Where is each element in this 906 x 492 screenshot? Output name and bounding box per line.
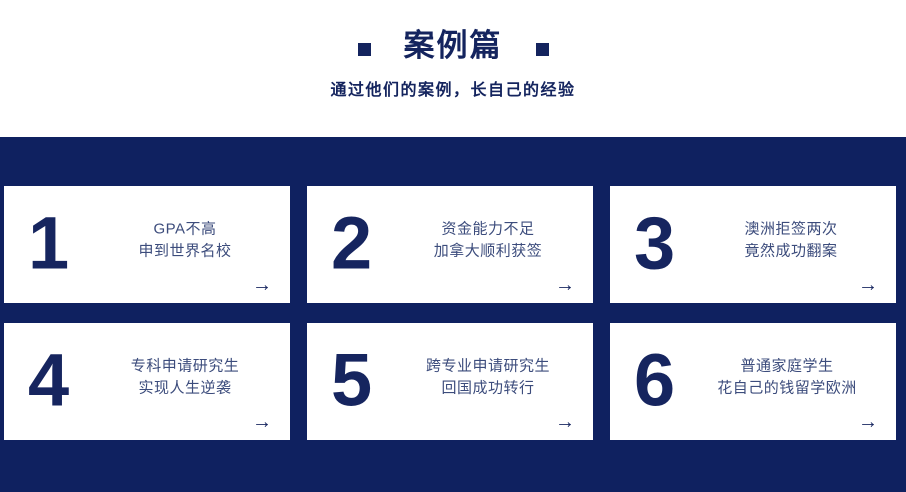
case-text-line2: 花自己的钱留学欧洲 [684,377,890,399]
case-number: 4 [28,343,68,417]
case-card-1[interactable]: 1 GPA不高 申到世界名校 → [4,186,290,303]
case-text-line1: 专科申请研究生 [90,355,280,377]
case-number: 5 [331,343,371,417]
case-number: 2 [331,206,371,280]
slide-header: 案例篇 通过他们的案例，长自己的经验 [0,0,906,137]
case-text-line2: 申到世界名校 [90,240,280,262]
case-number: 6 [634,343,674,417]
arrow-right-icon[interactable]: → [252,412,272,432]
case-card-6[interactable]: 6 普通家庭学生 花自己的钱留学欧洲 → [610,323,896,440]
title-row: 案例篇 [0,26,906,66]
page-title: 案例篇 [404,26,503,66]
case-text-line2: 回国成功转行 [393,377,583,399]
case-text: GPA不高 申到世界名校 [90,218,280,262]
case-text-line1: 澳洲拒签两次 [696,218,886,240]
case-text: 普通家庭学生 花自己的钱留学欧洲 [684,355,890,399]
case-card-4[interactable]: 4 专科申请研究生 实现人生逆袭 → [4,323,290,440]
case-number: 3 [634,206,674,280]
case-text-line2: 实现人生逆袭 [90,377,280,399]
case-text: 资金能力不足 加拿大顺利获签 [393,218,583,262]
case-text-line1: 资金能力不足 [393,218,583,240]
case-card-grid: 1 GPA不高 申到世界名校 → 2 资金能力不足 加拿大顺利获签 → 3 澳洲… [4,186,896,442]
arrow-right-icon[interactable]: → [252,275,272,295]
case-text-line1: GPA不高 [90,218,280,240]
case-card-3[interactable]: 3 澳洲拒签两次 竟然成功翻案 → [610,186,896,303]
arrow-right-icon[interactable]: → [555,275,575,295]
case-number: 1 [28,206,68,280]
case-text: 跨专业申请研究生 回国成功转行 [393,355,583,399]
case-text-line2: 竟然成功翻案 [696,240,886,262]
page-subtitle: 通过他们的案例，长自己的经验 [0,76,906,100]
case-text: 澳洲拒签两次 竟然成功翻案 [696,218,886,262]
arrow-right-icon[interactable]: → [555,412,575,432]
case-card-5[interactable]: 5 跨专业申请研究生 回国成功转行 → [307,323,593,440]
case-text: 专科申请研究生 实现人生逆袭 [90,355,280,399]
arrow-right-icon[interactable]: → [858,412,878,432]
case-text-line1: 跨专业申请研究生 [393,355,583,377]
slide-page: 案例篇 通过他们的案例，长自己的经验 1 GPA不高 申到世界名校 → 2 资金… [0,0,906,492]
bullet-square-left-icon [358,43,371,56]
arrow-right-icon[interactable]: → [858,275,878,295]
bullet-square-right-icon [536,43,549,56]
case-text-line1: 普通家庭学生 [684,355,890,377]
case-text-line2: 加拿大顺利获签 [393,240,583,262]
case-card-2[interactable]: 2 资金能力不足 加拿大顺利获签 → [307,186,593,303]
